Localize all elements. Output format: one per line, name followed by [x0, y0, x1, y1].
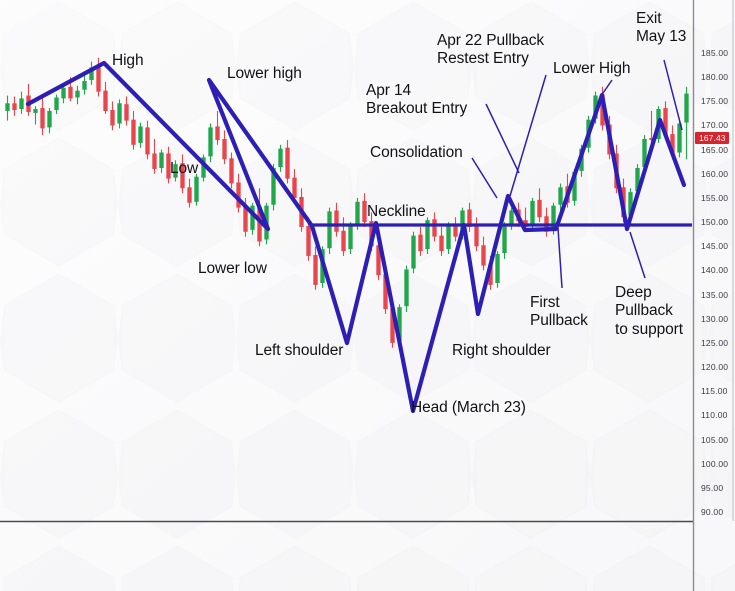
- candle-body: [684, 94, 688, 123]
- candle-body: [75, 91, 79, 98]
- candle-body: [537, 200, 541, 217]
- candle-body: [495, 254, 499, 283]
- annotation-left-shoulder: Left shoulder: [255, 342, 343, 360]
- price-tick-125-00: 125.00: [701, 338, 728, 348]
- candle-body: [432, 219, 436, 236]
- candle-body: [117, 103, 121, 123]
- annotation-neckline: Neckline: [367, 203, 426, 221]
- annotation-exit: Exit May 13: [636, 10, 686, 47]
- candle-body: [5, 103, 9, 111]
- candle-body: [502, 225, 506, 253]
- price-tick-105-00: 105.00: [701, 435, 728, 445]
- price-tick-155-00: 155.00: [701, 193, 728, 203]
- candle-body: [278, 149, 282, 167]
- candle-body: [481, 245, 485, 265]
- candle-body: [474, 226, 478, 246]
- annotation-first-pullback: First Pullback: [530, 294, 588, 331]
- candle-body: [103, 91, 107, 111]
- candle-body: [12, 103, 16, 110]
- annotation-lower-high-2: Lower High: [553, 60, 630, 78]
- candle-body: [355, 202, 359, 224]
- candle-body: [110, 110, 114, 125]
- candle-body: [82, 81, 86, 90]
- annotation-apr14-breakout: Apr 14 Breakout Entry: [366, 82, 467, 119]
- first-pullback-leader: [558, 228, 562, 288]
- annotation-lower-low: Lower low: [198, 260, 267, 278]
- price-tick-95-00: 95.00: [701, 483, 723, 493]
- price-tick-165-00: 165.00: [701, 145, 728, 155]
- candle-body: [334, 211, 338, 232]
- candle-body: [124, 104, 128, 120]
- candle-body: [404, 269, 408, 306]
- candle-body: [159, 153, 163, 168]
- candle-body: [138, 126, 142, 142]
- annotation-right-shoulder: Right shoulder: [452, 342, 551, 360]
- price-tick-120-00: 120.00: [701, 362, 728, 372]
- candle-body: [439, 236, 443, 251]
- candle-body: [222, 139, 226, 159]
- price-tick-115-00: 115.00: [701, 386, 728, 396]
- chart-canvas: 185.00180.00175.00170.00165.00160.00155.…: [0, 0, 735, 591]
- candle-body: [40, 108, 44, 128]
- annotation-head: Head (March 23): [411, 399, 526, 417]
- price-tick-90-00: 90.00: [701, 507, 723, 517]
- candle-body: [292, 178, 296, 198]
- candle-body: [229, 158, 233, 183]
- annotation-deep-pullback: Deep Pullback to support: [615, 284, 683, 339]
- candle-body: [285, 148, 289, 179]
- candle-body: [509, 211, 513, 225]
- candle-body: [96, 67, 100, 92]
- annotation-consolidation: Consolidation: [370, 144, 463, 162]
- candle-body: [33, 109, 37, 113]
- candle-body: [47, 111, 51, 127]
- price-tick-175-00: 175.00: [701, 96, 728, 106]
- candle-body: [446, 225, 450, 249]
- candle-body: [131, 120, 135, 145]
- candle-body: [19, 98, 23, 109]
- candle-body: [530, 201, 534, 226]
- price-tick-100-00: 100.00: [701, 459, 728, 469]
- price-tick-140-00: 140.00: [701, 265, 728, 275]
- apr22-leader: [510, 75, 546, 196]
- price-tick-110-00: 110.00: [701, 410, 728, 420]
- consolidation-leader: [472, 158, 497, 198]
- candle-body: [313, 255, 317, 285]
- deep-pullback-leader: [630, 232, 645, 278]
- current-price-badge: 167.43: [695, 132, 729, 144]
- candle-body: [418, 235, 422, 251]
- candle-body: [54, 97, 58, 110]
- candle-body: [145, 127, 149, 154]
- annotation-high: High: [112, 52, 143, 70]
- candle-body: [306, 226, 310, 256]
- candle-body: [208, 127, 212, 156]
- candle-body: [327, 211, 331, 248]
- price-tick-170-00: 170.00: [701, 120, 728, 130]
- candle-body: [61, 88, 65, 99]
- price-tick-180-00: 180.00: [701, 72, 728, 82]
- candle-body: [558, 187, 562, 204]
- price-tick-145-00: 145.00: [701, 241, 728, 251]
- candle-body: [152, 153, 156, 168]
- price-tick-185-00: 185.00: [701, 48, 728, 58]
- price-tick-150-00: 150.00: [701, 217, 728, 227]
- candle-body: [68, 87, 72, 99]
- price-tick-130-00: 130.00: [701, 314, 728, 324]
- candle-body: [348, 225, 352, 249]
- annotation-lower-high: Lower high: [227, 65, 302, 83]
- candle-body: [215, 126, 219, 140]
- annotation-low: Low: [170, 160, 198, 178]
- candle-body: [194, 177, 198, 202]
- apr14-leader: [486, 104, 519, 173]
- candle-body: [411, 236, 415, 269]
- price-tick-160-00: 160.00: [701, 169, 728, 179]
- annotation-apr22-pullback: Apr 22 Pullback Restest Entry: [437, 32, 544, 69]
- candle-body: [341, 231, 345, 251]
- candle-body: [187, 187, 191, 202]
- price-tick-135-00: 135.00: [701, 290, 728, 300]
